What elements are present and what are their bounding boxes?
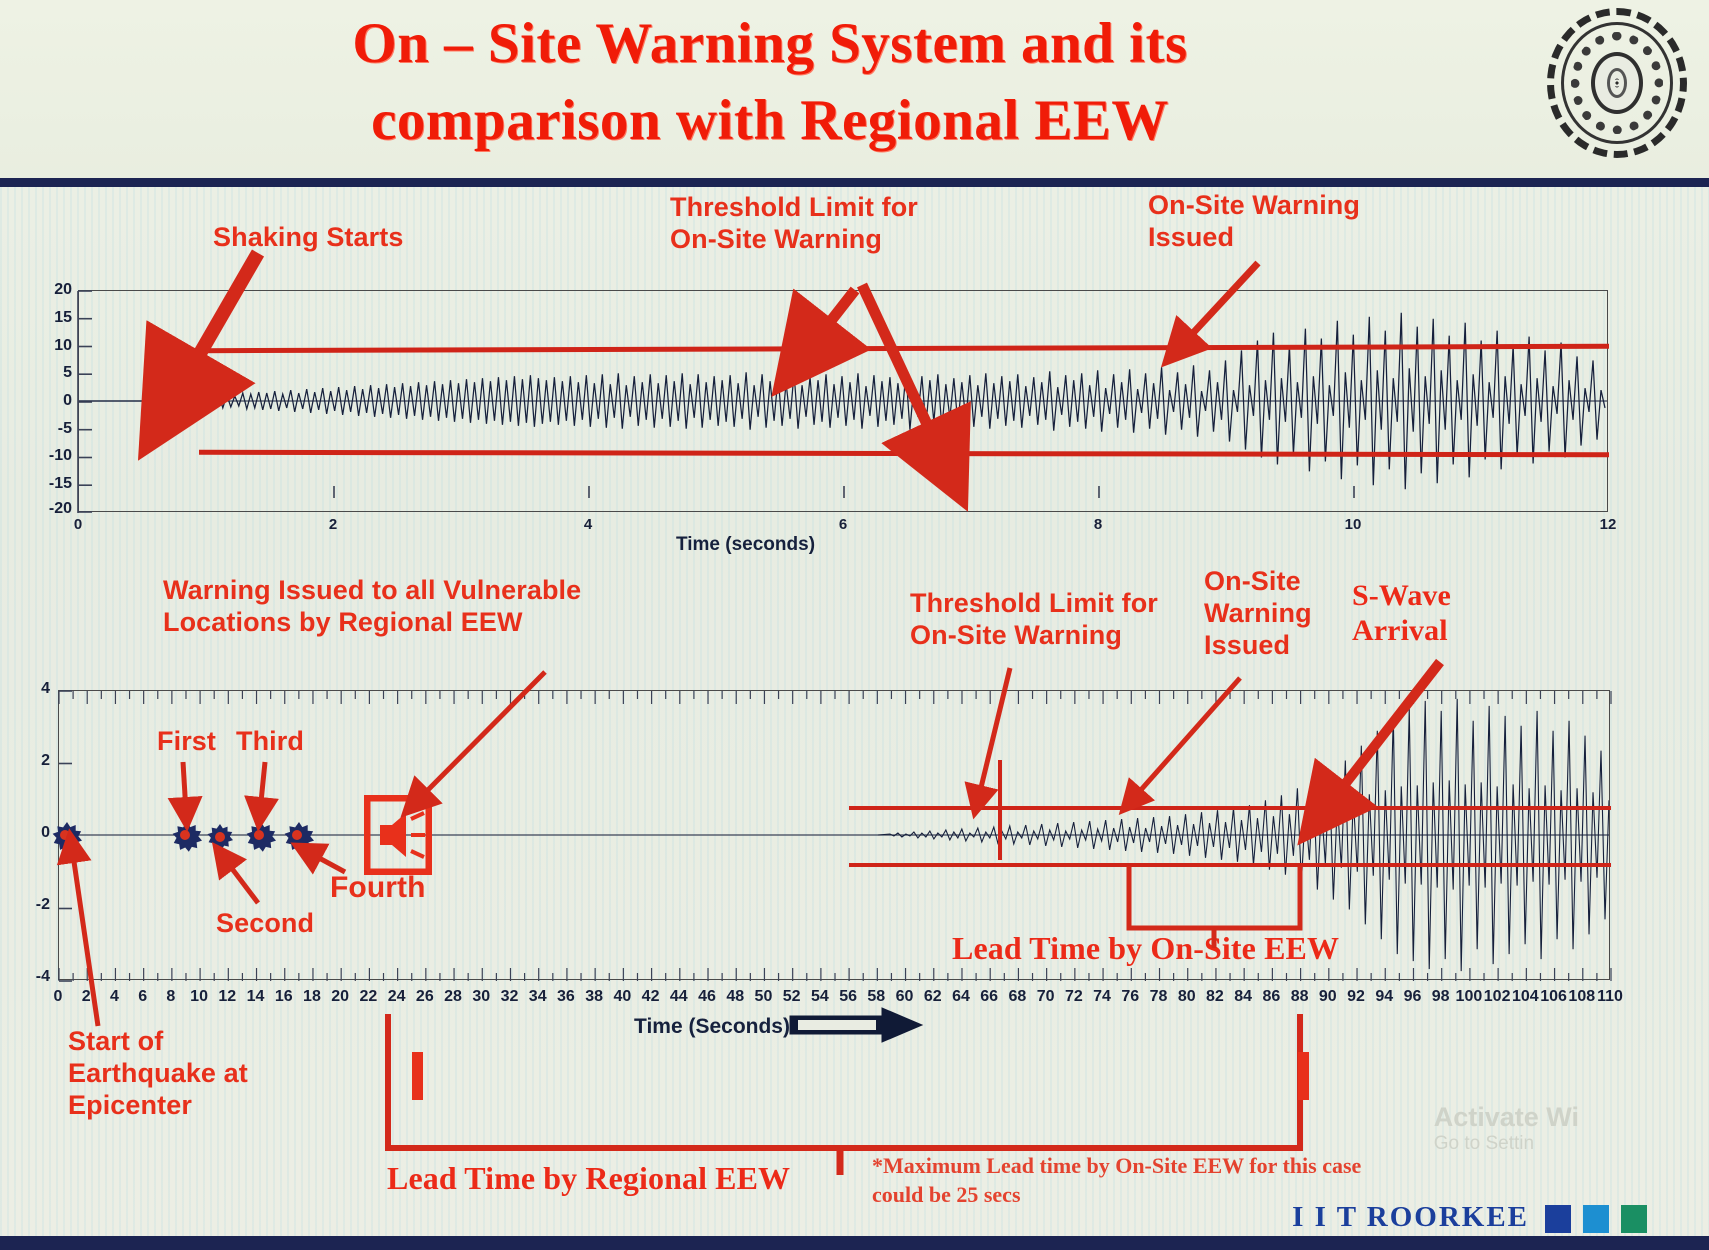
bottom-xtick-68: 68 [1001, 988, 1033, 1006]
bottom-xtick-6: 6 [127, 988, 159, 1006]
onsite-bottom-line3: Issued [1204, 630, 1312, 662]
bottom-xtick-64: 64 [945, 988, 977, 1006]
windows-activation-watermark: Activate Wi Go to Settin [1434, 1102, 1579, 1155]
annotation-first: First [157, 726, 216, 758]
bottom-xtick-28: 28 [437, 988, 469, 1006]
bottom-xtick-72: 72 [1058, 988, 1090, 1006]
annotation-onsite-warning-issued-top: On-Site Warning Issued [1148, 190, 1360, 254]
annotation-max-lead-time-note: *Maximum Lead time by On-Site EEW for th… [872, 1152, 1361, 1209]
bottom-ytick-0: 0 [14, 824, 50, 842]
top-ytick-m15: -15 [28, 475, 72, 493]
bottom-xtick-40: 40 [606, 988, 638, 1006]
footer-swatch-2 [1583, 1205, 1609, 1233]
bottom-xtick-14: 14 [240, 988, 272, 1006]
bottom-ytick-4: 4 [14, 680, 50, 698]
footer-swatch-3 [1621, 1205, 1647, 1233]
bottom-xtick-88: 88 [1284, 988, 1316, 1006]
threshold-bottom-line1: Threshold Limit for [910, 588, 1158, 620]
annotation-threshold-limit-bottom: Threshold Limit for On-Site Warning [910, 588, 1158, 652]
annotation-threshold-limit-top: Threshold Limit for On-Site Warning [670, 192, 918, 256]
start-eq-line3: Epicenter [68, 1090, 248, 1122]
top-xtick-0: 0 [62, 516, 94, 533]
bottom-xtick-96: 96 [1396, 988, 1428, 1006]
top-ytick-15: 15 [28, 309, 72, 327]
page-title: On – Site Warning System and its compari… [150, 6, 1390, 160]
threshold-top-line1: Threshold Limit for [670, 192, 918, 224]
top-ytick-0: 0 [28, 392, 72, 410]
bottom-xtick-60: 60 [889, 988, 921, 1006]
top-xtick-2: 2 [317, 516, 349, 533]
bottom-xtick-104: 104 [1509, 988, 1541, 1006]
onsite-top-line2: Issued [1148, 222, 1360, 254]
bottom-xtick-4: 4 [98, 988, 130, 1006]
slide-header: On – Site Warning System and its compari… [0, 0, 1709, 187]
footer-swatch-1 [1545, 1205, 1571, 1233]
regional-warning-line1: Warning Issued to all Vulnerable [163, 575, 581, 607]
bottom-xtick-2: 2 [70, 988, 102, 1006]
annotation-s-wave-arrival: S-Wave Arrival [1352, 578, 1451, 649]
top-chart-x-ticks [79, 498, 1609, 512]
bottom-ytick-m2: -2 [14, 896, 50, 914]
bottom-xtick-44: 44 [663, 988, 695, 1006]
regional-warning-tick [412, 1052, 423, 1100]
bottom-xtick-12: 12 [211, 988, 243, 1006]
start-eq-line2: Earthquake at [68, 1058, 248, 1090]
top-xtick-8: 8 [1082, 516, 1114, 533]
s-wave-line2: Arrival [1352, 613, 1451, 648]
s-wave-line1: S-Wave [1352, 578, 1451, 613]
bottom-xtick-98: 98 [1425, 988, 1457, 1006]
bottom-xtick-24: 24 [381, 988, 413, 1006]
bottom-xtick-74: 74 [1086, 988, 1118, 1006]
bottom-xtick-90: 90 [1312, 988, 1344, 1006]
watermark-line2: Go to Settin [1434, 1133, 1579, 1155]
bottom-xtick-62: 62 [917, 988, 949, 1006]
onsite-bottom-line1: On-Site [1204, 566, 1312, 598]
threshold-bottom-line2: On-Site Warning [910, 620, 1158, 652]
annotation-second: Second [216, 908, 314, 940]
bottom-xtick-46: 46 [691, 988, 723, 1006]
onsite-bottom-line2: Warning [1204, 598, 1312, 630]
bottom-xtick-82: 82 [1199, 988, 1231, 1006]
bottom-xtick-54: 54 [804, 988, 836, 1006]
annotation-lead-time-onsite: Lead Time by On-Site EEW [952, 930, 1339, 968]
annotation-start-of-earthquake: Start of Earthquake at Epicenter [68, 1026, 248, 1122]
bottom-xtick-42: 42 [635, 988, 667, 1006]
start-eq-line1: Start of [68, 1026, 248, 1058]
bottom-ytick-m4: -4 [14, 968, 50, 986]
top-ytick-m5: -5 [28, 420, 72, 438]
bottom-xtick-32: 32 [493, 988, 525, 1006]
top-ytick-10: 10 [28, 337, 72, 355]
top-chart-waveform [79, 291, 1607, 511]
title-line-1: On – Site Warning System and its [150, 6, 1390, 83]
bottom-xtick-66: 66 [973, 988, 1005, 1006]
bottom-xtick-70: 70 [1030, 988, 1062, 1006]
top-xtick-10: 10 [1337, 516, 1369, 533]
bottom-xtick-20: 20 [324, 988, 356, 1006]
bottom-xtick-22: 22 [352, 988, 384, 1006]
title-line-2: comparison with Regional EEW [150, 83, 1390, 160]
bottom-xtick-50: 50 [747, 988, 779, 1006]
bottom-xtick-92: 92 [1340, 988, 1372, 1006]
top-chart-y-ticks [78, 291, 100, 513]
bottom-xtick-110: 110 [1594, 988, 1626, 1006]
s-wave-arrival-tick [1298, 1052, 1309, 1100]
bottom-xtick-102: 102 [1481, 988, 1513, 1006]
top-chart-x-axis-label: Time (seconds) [676, 534, 815, 556]
bottom-xtick-48: 48 [719, 988, 751, 1006]
max-lead-note-line2: could be 25 secs [872, 1181, 1361, 1210]
bottom-xtick-52: 52 [776, 988, 808, 1006]
footer-band [0, 1236, 1709, 1250]
annotation-third: Third [236, 726, 304, 758]
bottom-xtick-100: 100 [1453, 988, 1485, 1006]
bottom-xtick-80: 80 [1171, 988, 1203, 1006]
top-chart-plot-area [78, 290, 1608, 512]
bottom-xtick-86: 86 [1255, 988, 1287, 1006]
watermark-line1: Activate Wi [1434, 1102, 1579, 1132]
iit-roorkee-emblem-icon [1547, 8, 1687, 158]
bottom-xtick-56: 56 [832, 988, 864, 1006]
warning-broadcast-icon[interactable] [364, 795, 432, 875]
top-xtick-4: 4 [572, 516, 604, 533]
annotation-onsite-warning-issued-bottom: On-Site Warning Issued [1204, 566, 1312, 662]
bottom-xtick-106: 106 [1538, 988, 1570, 1006]
top-ytick-20: 20 [28, 281, 72, 299]
bottom-xtick-108: 108 [1566, 988, 1598, 1006]
bottom-xtick-0: 0 [42, 988, 74, 1006]
top-xtick-6: 6 [827, 516, 859, 533]
top-xtick-12: 12 [1592, 516, 1624, 533]
bottom-xtick-26: 26 [409, 988, 441, 1006]
threshold-top-line2: On-Site Warning [670, 224, 918, 256]
bottom-xtick-38: 38 [578, 988, 610, 1006]
max-lead-note-line1: *Maximum Lead time by On-Site EEW for th… [872, 1152, 1361, 1181]
bottom-xtick-8: 8 [155, 988, 187, 1006]
annotation-shaking-starts: Shaking Starts [213, 222, 403, 254]
bottom-xtick-30: 30 [465, 988, 497, 1006]
bottom-xtick-58: 58 [860, 988, 892, 1006]
bottom-xtick-94: 94 [1368, 988, 1400, 1006]
bottom-xtick-34: 34 [522, 988, 554, 1006]
bottom-chart-x-axis-label: Time (Seconds) [634, 1015, 790, 1039]
bottom-xtick-78: 78 [1143, 988, 1175, 1006]
institute-name: I I T ROORKEE [1292, 1201, 1529, 1234]
bottom-xtick-16: 16 [268, 988, 300, 1006]
top-ytick-5: 5 [28, 364, 72, 382]
annotation-regional-warning: Warning Issued to all Vulnerable Locatio… [163, 575, 581, 639]
slide-canvas: On – Site Warning System and its compari… [0, 0, 1709, 1250]
bottom-ytick-2: 2 [14, 752, 50, 770]
bottom-xtick-76: 76 [1114, 988, 1146, 1006]
bottom-xtick-84: 84 [1227, 988, 1259, 1006]
regional-warning-line2: Locations by Regional EEW [163, 607, 581, 639]
bottom-xtick-36: 36 [550, 988, 582, 1006]
bottom-xtick-10: 10 [183, 988, 215, 1006]
onsite-top-line1: On-Site Warning [1148, 190, 1360, 222]
bottom-xtick-18: 18 [296, 988, 328, 1006]
top-ytick-m10: -10 [28, 447, 72, 465]
annotation-lead-time-regional: Lead Time by Regional EEW [387, 1160, 790, 1198]
annotation-fourth: Fourth [330, 870, 426, 905]
time-direction-arrow-icon [790, 1008, 930, 1048]
